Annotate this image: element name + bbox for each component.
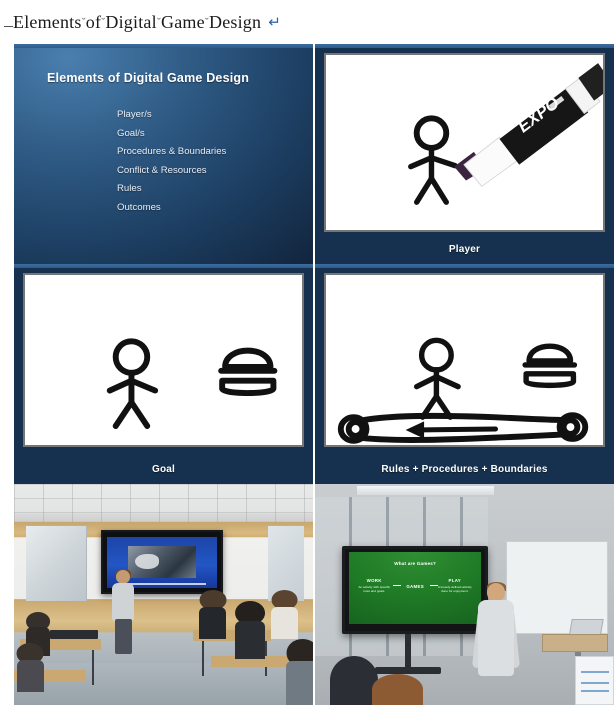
whiteboard-image-rules: [324, 273, 605, 447]
paragraph-mark-icon: ↵: [268, 13, 281, 32]
page-title: ElementsˇofˇDigitalˇGameˇDesign: [13, 12, 261, 33]
slide-screen-play-column: PLAY A loosely-defined activity done for…: [435, 578, 475, 593]
heading-word: Design: [209, 12, 261, 32]
poster-line: [581, 690, 609, 692]
text-cursor-mark: [4, 16, 13, 29]
student-figure: [17, 643, 44, 692]
desk-leg: [92, 650, 94, 685]
display-stand: [405, 634, 411, 669]
heading-word: of: [86, 12, 101, 32]
student-figure: [199, 590, 226, 639]
play-heading: PLAY: [435, 578, 475, 583]
slide-photo-content: [128, 546, 196, 578]
presenter-torso: [478, 600, 514, 675]
list-item: Outcomes: [117, 199, 226, 218]
slide-screen-title: What are Games?: [349, 561, 481, 566]
student-body: [286, 661, 313, 705]
list-item: Rules: [117, 180, 226, 199]
slide-player[interactable]: EXPO Player: [315, 44, 614, 264]
ceiling-light: [357, 486, 495, 495]
poster-line: [581, 671, 609, 673]
student-body: [235, 621, 265, 659]
slide-row-1: Elements of Digital Game Design Player/s…: [14, 44, 615, 264]
desk-leg: [202, 641, 204, 676]
stick-figure-and-burger-drawing: [25, 275, 302, 445]
slide-top-edge: [14, 264, 313, 268]
slide-row-3: What are Games? WORK An activity with sp…: [14, 484, 615, 705]
presenter-figure: [110, 570, 137, 654]
heading-word: Digital: [105, 12, 156, 32]
student-figure: [286, 639, 313, 705]
presenter-torso: [112, 583, 135, 622]
presenter-head: [116, 570, 130, 583]
wall-display-screen: What are Games? WORK An activity with sp…: [342, 546, 489, 634]
heading-word: Game: [161, 12, 205, 32]
heading-word: Elements: [13, 12, 82, 32]
play-body: A loosely-defined activity done for enjo…: [435, 585, 475, 593]
student-figure: [330, 656, 378, 705]
slide-rules[interactable]: Rules + Procedures + Boundaries: [315, 264, 614, 484]
poster: [575, 656, 614, 705]
slide-caption: Rules + Procedures + Boundaries: [315, 464, 614, 475]
games-label: GAMES: [398, 584, 432, 589]
slide-caption: Player: [315, 244, 614, 255]
slide-top-edge: [315, 44, 614, 48]
presenter-head: [487, 583, 505, 601]
slide-screen-work-column: WORK An activity with specific rules and…: [356, 578, 393, 593]
student-body: [271, 607, 298, 639]
list-item: Conflict & Resources: [117, 162, 226, 181]
slide-caption: Goal: [14, 464, 313, 475]
slide-title-text: Elements of Digital Game Design: [47, 71, 249, 85]
whiteboard-image-player: EXPO: [324, 53, 605, 232]
document-heading-line: ElementsˇofˇDigitalˇGameˇDesign ↵: [0, 0, 615, 44]
presenter-legs: [115, 619, 132, 654]
work-heading: WORK: [356, 578, 393, 583]
student-figure: [372, 674, 423, 705]
student-body: [17, 660, 44, 692]
ceiling-tiles: [14, 484, 313, 522]
photo-classroom-lecture[interactable]: [14, 484, 313, 705]
list-item: Player/s: [117, 106, 226, 125]
stick-figure-with-marker-drawing: EXPO: [326, 55, 603, 230]
slide-title-elements[interactable]: Elements of Digital Game Design Player/s…: [14, 44, 313, 264]
slide-top-edge: [14, 44, 313, 48]
desk: [50, 630, 98, 639]
slide-top-edge: [315, 264, 614, 268]
student-figure: [271, 590, 298, 639]
whiteboard-image-goal: [23, 273, 304, 447]
slide-goal[interactable]: Goal: [14, 264, 313, 484]
student-body: [199, 607, 226, 639]
student-figure: [235, 601, 265, 658]
projected-slide-green: What are Games? WORK An activity with sp…: [349, 552, 481, 624]
slide-grid: Elements of Digital Game Design Player/s…: [14, 44, 615, 705]
display-base: [375, 667, 441, 674]
lectern-table: [542, 634, 608, 652]
presenter-figure: [476, 583, 515, 705]
slide-row-2: Goal: [14, 264, 615, 484]
wall-panel-left: [26, 526, 87, 601]
poster-line: [581, 682, 609, 684]
list-item: Procedures & Boundaries: [117, 143, 226, 162]
treadmill-figure-burger-drawing: [326, 275, 603, 445]
list-item: Goal/s: [117, 125, 226, 144]
slide-bullet-list: Player/s Goal/s Procedures & Boundaries …: [117, 106, 226, 217]
photo-classroom-games-slide[interactable]: What are Games? WORK An activity with sp…: [315, 484, 614, 705]
work-body: An activity with specific rules and goal…: [356, 585, 393, 593]
